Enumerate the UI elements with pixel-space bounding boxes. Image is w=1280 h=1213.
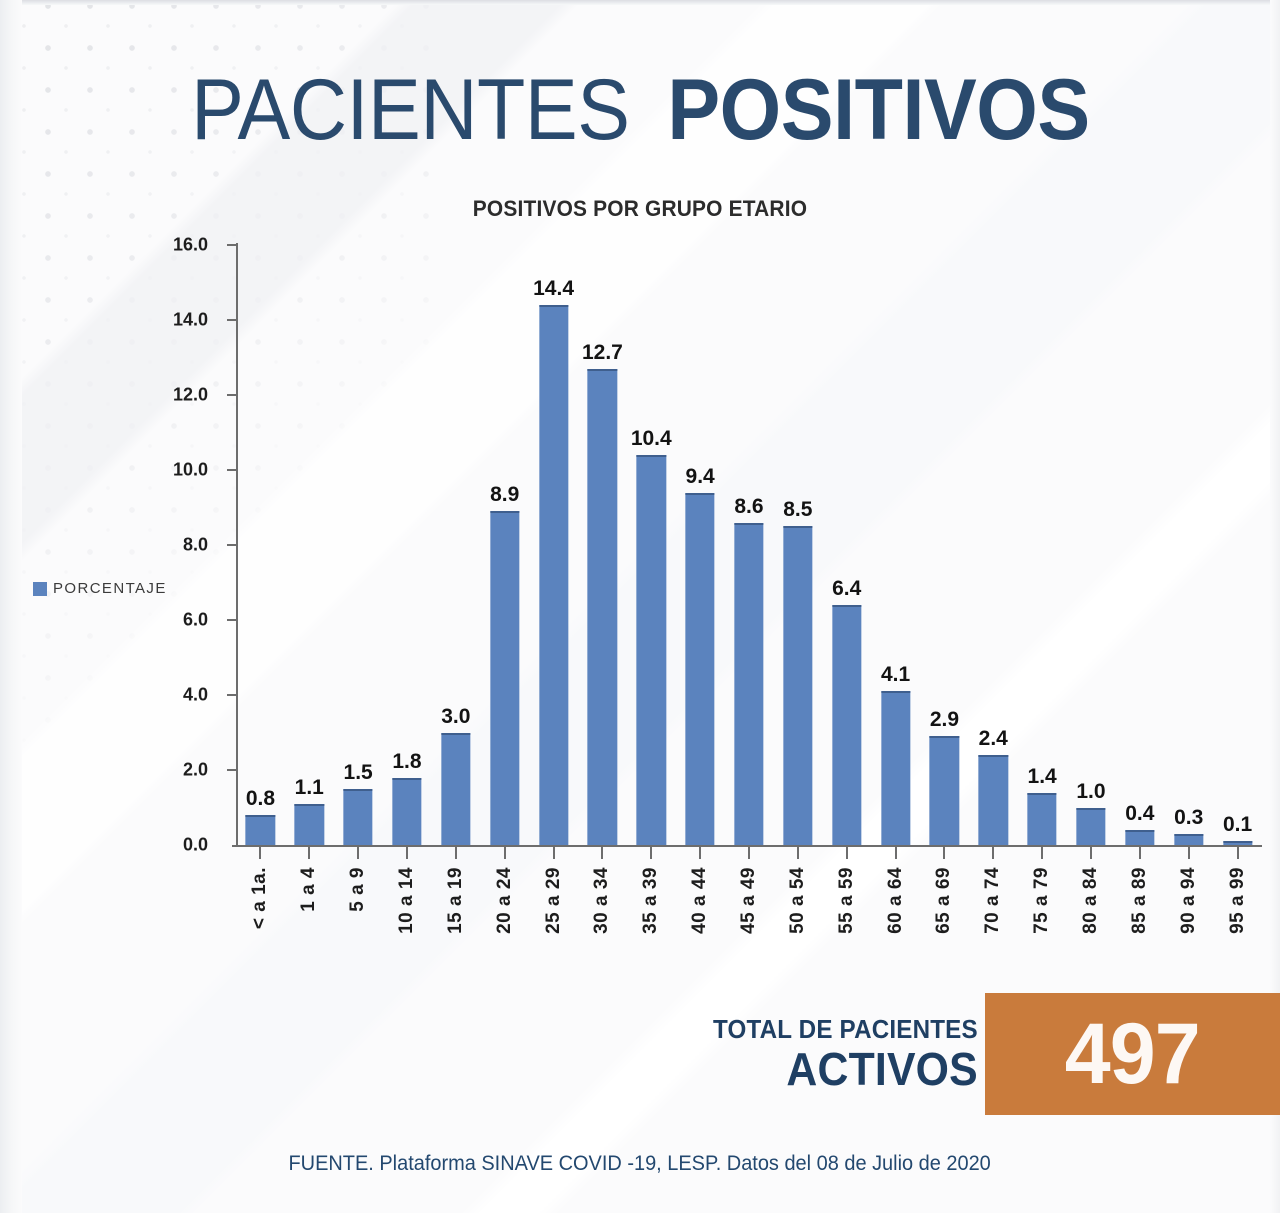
y-axis-tick-label: 0.0: [118, 835, 208, 856]
bar[interactable]: [539, 305, 568, 845]
bar-slot: 1.55 a 9: [334, 245, 383, 845]
bar-slot: 2.470 a 74: [969, 245, 1018, 845]
bar-value-label: 14.4: [533, 277, 574, 301]
y-axis-tick-label: 16.0: [118, 235, 208, 256]
chart-subtitle: POSITIVOS POR GRUPO ETARIO: [0, 196, 1280, 222]
bar-value-label: 8.5: [783, 498, 812, 522]
bar-slot: 0.485 a 89: [1115, 245, 1164, 845]
bar-slot: 14.425 a 29: [529, 245, 578, 845]
bar-value-label: 1.5: [344, 761, 373, 785]
x-axis-tick-mark: [1188, 845, 1190, 859]
bar[interactable]: [343, 789, 372, 845]
x-axis-tick-label: 80 a 84: [1080, 867, 1102, 934]
y-axis-tick-mark: [227, 319, 236, 321]
x-axis-tick-label: 50 a 54: [787, 867, 809, 934]
bar[interactable]: [734, 523, 763, 846]
bar-value-label: 2.4: [979, 727, 1008, 751]
left-frame-line: [0, 0, 22, 1213]
legend-label: PORCENTAJE: [53, 580, 167, 597]
x-axis-tick-mark: [797, 845, 799, 859]
bar[interactable]: [392, 778, 421, 846]
bar-slot: 1.11 a 4: [285, 245, 334, 845]
y-axis-tick-label: 2.0: [118, 760, 208, 781]
bar-value-label: 0.8: [246, 787, 275, 811]
total-label-line1: TOTAL DE PACIENTES: [693, 1014, 978, 1044]
x-axis-tick-mark: [748, 845, 750, 859]
bar-slot: 0.195 a 99: [1213, 245, 1262, 845]
bar-value-label: 1.8: [392, 750, 421, 774]
bar-slot: 3.015 a 19: [431, 245, 480, 845]
x-axis-tick-label: 25 a 29: [543, 867, 565, 934]
bar-value-label: 4.1: [881, 663, 910, 687]
x-axis-tick-label: 35 a 39: [640, 867, 662, 934]
x-axis-tick-mark: [504, 845, 506, 859]
bar-slot: 0.390 a 94: [1164, 245, 1213, 845]
bar-slot: 10.435 a 39: [627, 245, 676, 845]
bar-slot: 12.730 a 34: [578, 245, 627, 845]
bar-value-label: 3.0: [441, 705, 470, 729]
x-axis-tick-mark: [699, 845, 701, 859]
x-axis-tick-mark: [601, 845, 603, 859]
x-axis-tick-mark: [846, 845, 848, 859]
x-axis-tick-label: 30 a 34: [591, 867, 613, 934]
bar-slot: 1.080 a 84: [1067, 245, 1116, 845]
total-active-patients-block: TOTAL DE PACIENTES ACTIVOS 497: [688, 993, 1280, 1115]
y-axis-tick-label: 10.0: [118, 460, 208, 481]
source-footnote: FUENTE. Plataforma SINAVE COVID -19, LES…: [0, 1152, 1280, 1176]
y-axis-tick-mark: [227, 694, 236, 696]
y-axis-tick-mark: [227, 244, 236, 246]
bar[interactable]: [979, 755, 1008, 845]
y-axis-tick-mark: [227, 544, 236, 546]
bar-value-label: 8.9: [490, 483, 519, 507]
x-axis-tick-label: 65 a 69: [933, 867, 955, 934]
y-axis-tick-label: 12.0: [118, 385, 208, 406]
x-axis-tick-label: 10 a 14: [396, 867, 418, 934]
x-axis-tick-mark: [650, 845, 652, 859]
x-axis-tick-mark: [553, 845, 555, 859]
page-title-light: PACIENTES: [191, 62, 629, 158]
bar-value-label: 0.4: [1125, 802, 1154, 826]
bar[interactable]: [1027, 793, 1056, 846]
bar-value-label: 2.9: [930, 708, 959, 732]
bar-slot: 8.550 a 54: [773, 245, 822, 845]
bar[interactable]: [441, 733, 470, 846]
bar[interactable]: [246, 815, 275, 845]
y-axis-tick-mark: [227, 619, 236, 621]
bar[interactable]: [685, 493, 714, 846]
x-axis-tick-label: 60 a 64: [885, 867, 907, 934]
y-axis-tick-mark: [227, 394, 236, 396]
x-axis-tick-mark: [895, 845, 897, 859]
bar[interactable]: [490, 511, 519, 845]
x-axis-tick-label: 55 a 59: [836, 867, 858, 934]
x-axis-tick-mark: [259, 845, 261, 859]
bar[interactable]: [1125, 830, 1154, 845]
y-axis-tick-label: 4.0: [118, 685, 208, 706]
total-label-group: TOTAL DE PACIENTES ACTIVOS: [688, 993, 978, 1115]
page-title: PACIENTES POSITIVOS: [0, 62, 1280, 158]
x-axis-tick-label: 85 a 89: [1129, 867, 1151, 934]
x-axis-tick-mark: [1041, 845, 1043, 859]
bar-slot: 2.965 a 69: [920, 245, 969, 845]
bar-value-label: 10.4: [631, 427, 672, 451]
total-label-line2: ACTIVOS: [772, 1044, 978, 1094]
x-axis-tick-label: 45 a 49: [738, 867, 760, 934]
bar-slot: 8.920 a 24: [480, 245, 529, 845]
bar-value-label: 8.6: [734, 495, 763, 519]
bar-slot: 8.645 a 49: [725, 245, 774, 845]
bar[interactable]: [295, 804, 324, 845]
x-axis-tick-label: 20 a 24: [494, 867, 516, 934]
slide-canvas: PACIENTES POSITIVOS POSITIVOS POR GRUPO …: [0, 0, 1280, 1213]
x-axis-tick-label: 5 a 9: [347, 867, 369, 912]
x-axis-tick-mark: [943, 845, 945, 859]
bar[interactable]: [1076, 808, 1105, 846]
bar-slot: 9.440 a 44: [676, 245, 725, 845]
bar-slot: 1.475 a 79: [1018, 245, 1067, 845]
x-axis-tick-label: 40 a 44: [689, 867, 711, 934]
y-axis-tick-label: 14.0: [118, 310, 208, 331]
top-frame-line: [0, 0, 1280, 5]
bar-slot: 0.8< a 1a.: [236, 245, 285, 845]
page-title-bold: POSITIVOS: [667, 62, 1089, 158]
bar[interactable]: [881, 691, 910, 845]
y-axis-tick-mark: [227, 469, 236, 471]
x-axis-tick-mark: [992, 845, 994, 859]
bar-value-label: 0.1: [1223, 813, 1252, 837]
bar[interactable]: [1174, 834, 1203, 845]
x-axis-tick-mark: [357, 845, 359, 859]
y-axis-tick-label: 8.0: [118, 535, 208, 556]
bar-value-label: 9.4: [686, 465, 715, 489]
x-axis-tick-label: 1 a 4: [298, 867, 320, 912]
bar-value-label: 1.4: [1028, 765, 1057, 789]
x-axis-tick-label: 90 a 94: [1178, 867, 1200, 934]
bar-value-label: 6.4: [832, 577, 861, 601]
bar[interactable]: [832, 605, 861, 845]
x-axis-tick-label: 75 a 79: [1031, 867, 1053, 934]
x-axis-tick-label: < a 1a.: [249, 867, 271, 929]
total-value-box: 497: [985, 993, 1280, 1115]
y-axis-tick-label: 6.0: [118, 610, 208, 631]
source-footnote-text: FUENTE. Plataforma SINAVE COVID -19, LES…: [289, 1152, 991, 1176]
bar[interactable]: [588, 369, 617, 845]
chart-subtitle-text: POSITIVOS POR GRUPO ETARIO: [473, 196, 807, 222]
x-axis-tick-label: 70 a 74: [982, 867, 1004, 934]
y-axis-tick-mark: [227, 769, 236, 771]
chart-legend: PORCENTAJE: [33, 580, 167, 597]
x-axis-tick-mark: [455, 845, 457, 859]
bar-slot: 6.455 a 59: [822, 245, 871, 845]
bar-value-label: 12.7: [582, 341, 623, 365]
bar[interactable]: [783, 526, 812, 845]
bar-value-label: 0.3: [1174, 806, 1203, 830]
x-axis-tick-mark: [1139, 845, 1141, 859]
bar-slot: 4.160 a 64: [871, 245, 920, 845]
x-axis-tick-mark: [1237, 845, 1239, 859]
bar-value-label: 1.1: [295, 776, 324, 800]
legend-color-swatch: [33, 582, 47, 596]
bar[interactable]: [637, 455, 666, 845]
x-axis-tick-mark: [308, 845, 310, 859]
total-value: 497: [1062, 1011, 1203, 1097]
bar-chart-plot-area: 16.014.012.010.08.06.04.02.00.00.8< a 1a…: [236, 245, 1262, 845]
x-axis-tick-label: 95 a 99: [1227, 867, 1249, 934]
bar[interactable]: [930, 736, 959, 845]
x-axis-tick-label: 15 a 19: [445, 867, 467, 934]
x-axis-tick-mark: [1090, 845, 1092, 859]
bar-slot: 1.810 a 14: [383, 245, 432, 845]
bar-value-label: 1.0: [1076, 780, 1105, 804]
x-axis-tick-mark: [406, 845, 408, 859]
